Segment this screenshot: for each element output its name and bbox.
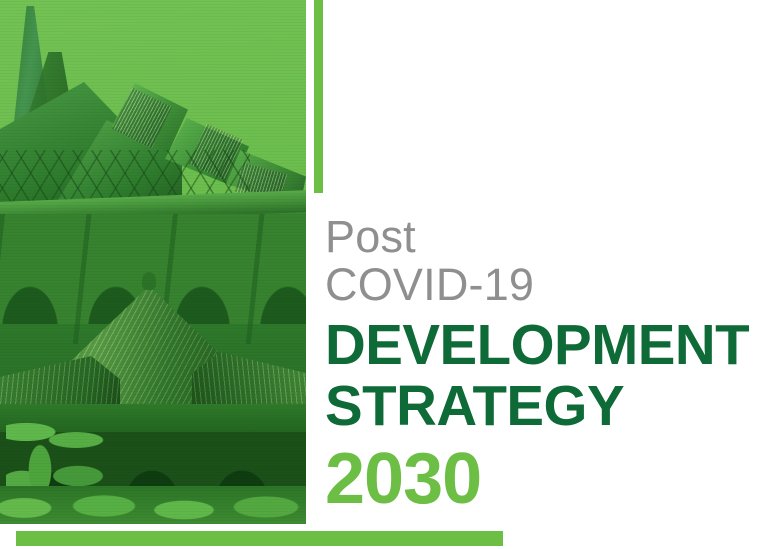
photo-pagoda-finial xyxy=(142,272,156,290)
photo-hedge-row xyxy=(0,486,306,524)
title-line-post: Post xyxy=(325,214,745,260)
bottom-accent-bar xyxy=(16,531,503,546)
title-line-covid19: COVID-19 xyxy=(325,262,745,308)
report-cover-page: Post COVID-19 DEVELOPMENT STRATEGY 2030 xyxy=(0,0,761,549)
cover-photo xyxy=(0,0,306,524)
cover-title-block: Post COVID-19 DEVELOPMENT STRATEGY 2030 xyxy=(325,214,745,516)
title-line-development: DEVELOPMENT xyxy=(325,316,741,375)
title-year: 2030 xyxy=(325,442,745,516)
title-line-strategy: STRATEGY xyxy=(325,377,741,436)
vertical-accent-bar xyxy=(314,0,323,193)
